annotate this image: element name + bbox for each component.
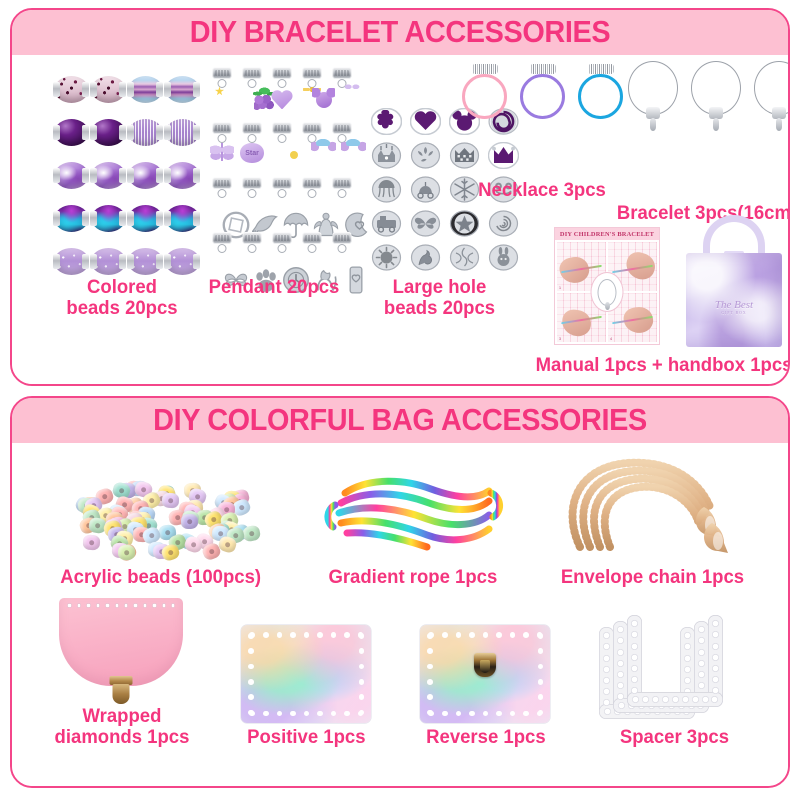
bail-icon [273,122,292,134]
cord-loop-icon [462,74,507,119]
chain-svg [554,451,750,563]
flap-hole [152,603,156,607]
manual-step-number: 4 [610,337,612,341]
cloud-charm-icon: Star [240,143,264,163]
panel-hole [538,710,544,716]
gift-handbox: The Best GIFT BOX [680,215,788,350]
flap-hole [171,603,175,607]
panel-hole [427,679,433,685]
finished-bracelet-icon [598,279,617,306]
section-body-bag: Acrylic beads (100pcs) [12,443,788,786]
flap-body [59,598,183,686]
bag-flap [59,598,183,704]
gradient-rope-coil [319,459,507,563]
label-acrylic-beads: Acrylic beads (100pcs) [60,567,261,588]
jump-ring-icon [308,244,317,253]
panel-hole-col-right [538,633,544,715]
envelope-chain-art [554,451,750,563]
panel-hole [496,711,502,717]
panel-hole [538,664,544,670]
label-spacer: Spacer 3pcs [620,727,729,748]
pendant-charm [268,177,296,231]
item-handbox: The Best GIFT BOX [680,215,788,350]
bail-icon [303,177,322,189]
acrylic-bead [83,534,101,550]
bail-icon [333,122,352,134]
colored-bead [129,162,162,189]
bangle-dangle-icon [713,118,719,131]
panel-hole [344,632,350,638]
panel-hole [248,648,254,654]
panel-hole-col-left [248,633,254,715]
bangle-dangle-icon [776,118,782,131]
ribbon-handle-icon [703,215,765,255]
bail-icon [213,122,232,134]
panel-hole [331,632,337,638]
pendant-charm [208,177,236,231]
extender-chain-icon [530,64,556,74]
panel-hole [359,633,365,639]
panel-hole [442,711,448,717]
product-infographic: DIY BRACELET ACCESSORIES [0,0,800,800]
acrylic-bead [118,545,135,560]
holographic-panel-reverse [420,625,550,723]
panel-hole-row-top [249,632,363,638]
spacer-stack [599,613,749,723]
jump-ring-icon [218,79,227,88]
panel-hole [359,648,365,654]
extender-chain-icon [472,64,498,74]
pendant-charm [238,177,266,231]
bail-icon [243,232,262,244]
label-positive: Positive 1pcs [247,727,365,748]
pendant-charm [298,67,326,121]
panel-hole [248,633,254,639]
colored-bead [55,205,88,232]
jump-ring-icon [278,79,287,88]
label-pendant: Pendant 20pcs [198,277,350,298]
flap-clasp-icon [110,676,133,704]
spacer-holes-left [617,626,624,700]
crown-bead-icon [449,142,480,169]
acrylic-bead [161,493,179,509]
panel-hole [248,694,254,700]
manual-center-inset [591,272,624,312]
pendant-grid: Star [208,67,356,286]
item-reverse-panel: Reverse 1pcs [420,625,550,748]
ornate-butterfly-bead-icon [410,210,441,237]
panel-hole [483,711,489,717]
necklace-cord [576,63,626,123]
colored-bead [55,248,88,275]
bangle-dangle-icon [650,118,656,131]
item-positive-panel: Positive 1pcs [241,625,371,748]
bail-icon [333,67,352,79]
pendant-charm [298,177,326,231]
jump-ring-icon [278,134,287,143]
jump-ring-icon [248,244,257,253]
item-manual: DIY CHILDREN'S BRACELET 1 2 [554,227,660,345]
spacer-holes-right [712,620,719,694]
panel-hole [317,711,323,717]
jump-ring-icon [338,189,347,198]
item-envelope-chain: Envelope chain 1pcs [554,451,750,588]
spacer-holes-left [631,620,638,694]
label-gradient-rope: Gradient rope 1pcs [329,567,498,588]
jump-ring-icon [308,189,317,198]
handbox-logo: The Best GIFT BOX [715,299,753,315]
section-header-bracelet: DIY BRACELET ACCESSORIES [12,10,788,55]
cord-loop-icon [578,74,623,119]
bail-icon [243,122,262,134]
panel-hole [359,679,365,685]
extender-chain-icon [588,64,614,74]
clasp-tongue [113,684,130,704]
colored-bead [55,162,88,189]
panel-hole [263,711,269,717]
item-bracelet [624,61,790,137]
manual-cover-title: DIY CHILDREN'S BRACELET [555,228,659,240]
colored-bead [129,119,162,146]
manual-steps-grid: 1 2 3 [555,240,659,344]
item-pendant: Star [208,67,356,286]
pendant-charm [298,122,326,176]
panel-hole [248,664,254,670]
flap-hole [96,603,100,607]
section-card-bag: DIY COLORFUL BAG ACCESSORIES Acrylic bea… [10,396,790,788]
section-body-bracelet: Colored beads 20pcs [12,55,788,384]
panel-hole [427,648,433,654]
label-reverse: Reverse 1pcs [426,727,545,748]
positive-panel-art [241,625,371,723]
pendant-charm [208,67,236,121]
item-gradient-rope: Gradient rope 1pcs [319,459,507,588]
sun-face-bead-icon [371,244,402,271]
bag-row-top: Acrylic beads (100pcs) [12,443,788,588]
clover-bead-icon [371,108,402,135]
pendant-charm [268,122,296,176]
panel-hole [469,632,475,638]
panel-clasp-icon [474,653,496,677]
panel-hole [538,694,544,700]
colored-beads-grid [54,69,199,282]
colored-bead [166,119,199,146]
panel-hole [331,711,337,717]
handbox-body: The Best GIFT BOX [686,253,782,347]
flap-hole [105,603,109,607]
necklace-cord [460,63,510,123]
bail-icon [333,232,352,244]
panel-hole [496,632,502,638]
star-bead-icon [449,210,480,237]
colored-bead [166,76,199,103]
section-title-bracelet: DIY BRACELET ACCESSORIES [39,15,761,48]
jump-ring-icon [218,244,227,253]
envelope-chain-strap [554,451,750,563]
colored-bead [129,205,162,232]
panel-hole [523,711,529,717]
bangle-bracelet [624,61,682,137]
label-wrapped-diamonds: Wrapped diamonds 1pcs [54,706,189,748]
jump-ring-icon [218,189,227,198]
label-necklace: Necklace 3pcs [457,180,628,201]
train-bead-icon [371,210,402,237]
colored-bead [129,76,162,103]
cord-loop-icon [520,74,565,119]
acrylic-bead [181,514,198,529]
section-card-bracelet: DIY BRACELET ACCESSORIES [10,8,790,386]
heart-bead-icon [410,108,441,135]
flap-hole [143,603,147,607]
panel-hole [359,694,365,700]
bangle-bracelet [687,61,745,137]
spacer-holes-left [603,632,610,706]
castle-bead-icon [371,142,402,169]
pendant-charm [328,67,356,121]
panel-hole-col-right [359,633,365,715]
manual-step-number: 3 [559,337,561,341]
panel-hole [483,632,489,638]
panel-hole [290,711,296,717]
bag-row-bottom: Wrapped diamonds 1pcs [12,588,788,748]
item-acrylic-beads: Acrylic beads (100pcs) [50,459,272,588]
flap-hole [67,603,71,607]
jump-ring-icon [278,244,287,253]
jump-ring-icon [248,134,257,143]
label-colored-beads: Colored beads 20pcs [46,277,198,319]
gradient-rope-art [319,459,507,563]
bail-icon [213,67,232,79]
acrylic-beads-art [50,459,272,563]
label-envelope-chain: Envelope chain 1pcs [561,567,744,588]
item-necklace [460,63,626,123]
filigree-bead-icon [449,244,480,271]
holographic-panel-positive [241,625,371,723]
bunny-bead-icon [488,244,519,271]
colored-bead [166,205,199,232]
flap-hole [86,603,90,607]
flap-hole [162,603,166,607]
panel-hole [538,648,544,654]
flap-hole [124,603,128,607]
flap-hole [115,603,119,607]
panel-hole [304,711,310,717]
manual-step-number: 1 [559,286,561,290]
label-manual-handbox: Manual 1pcs + handbox 1pcs [531,355,790,376]
pendant-charm [268,67,296,121]
colored-bead [92,205,125,232]
wrapped-flap-art [59,598,183,704]
panel-hole [290,632,296,638]
panel-hole [510,711,516,717]
flap-hole [77,603,81,607]
flap-hole-row [67,603,175,609]
bail-icon [273,232,292,244]
label-large-hole-beads: Large hole beads 20pcs [361,277,518,319]
panel-hole [523,632,529,638]
panel-hole [263,632,269,638]
bail-icon [213,177,232,189]
panel-hole [456,632,462,638]
bail-icon [273,177,292,189]
item-spacer: Spacer 3pcs [599,613,749,748]
bail-icon [333,177,352,189]
panel-hole [442,632,448,638]
jump-ring-icon [218,134,227,143]
colored-bead [92,119,125,146]
bail-icon [243,67,262,79]
pendant-charm: Star [238,122,266,176]
jellyfish-bead-icon [371,176,402,203]
panel-hole-row-bottom [428,711,542,717]
colored-bead [166,162,199,189]
purple-crown-bead-icon [488,142,519,169]
panel-hole-col-left [427,633,433,715]
panel-hole-row-bottom [249,711,363,717]
colored-bead [55,76,88,103]
panel-hole [538,633,544,639]
colored-bead [55,119,88,146]
panel-hole-row-top [428,632,542,638]
colored-bead [92,248,125,275]
panel-hole [277,711,283,717]
manual-booklet: DIY CHILDREN'S BRACELET 1 2 [554,227,660,345]
rope-svg [319,459,507,563]
panel-hole [359,710,365,716]
bow-icon [303,85,321,94]
panel-hole [427,694,433,700]
floral-bead-icon [410,142,441,169]
carriage-bead-icon [410,176,441,203]
bail-icon [273,67,292,79]
panel-hole [277,632,283,638]
item-colored-beads [54,69,199,282]
butterfly-charm-icon [210,143,234,161]
colored-bead [92,76,125,103]
dragon-bead-icon [410,244,441,271]
necklace-cord [518,63,568,123]
bail-icon [243,177,262,189]
flap-hole [133,603,137,607]
panel-hole [469,711,475,717]
rose-bead-icon [488,210,519,237]
jump-ring-icon [338,244,347,253]
panel-hole [248,679,254,685]
spacer-strip [627,615,723,707]
bail-icon [303,232,322,244]
panel-hole [304,632,310,638]
spacer-art [599,613,749,723]
bail-icon [303,67,322,79]
pendant-charm [208,122,236,176]
colored-bead [92,162,125,189]
acrylic-bead-pile [50,459,272,563]
reverse-panel-art [420,625,550,723]
panel-hole [317,632,323,638]
panel-hole [427,710,433,716]
bracelet-row [624,61,790,137]
pendant-charm [328,177,356,231]
panel-hole [344,711,350,717]
section-header-bag: DIY COLORFUL BAG ACCESSORIES [12,398,788,443]
panel-hole [510,632,516,638]
panel-hole [427,664,433,670]
panel-hole [456,711,462,717]
heart-charm-icon [271,88,293,109]
bangle-bracelet [750,61,790,137]
panel-hole [359,664,365,670]
bail-icon [303,122,322,134]
necklace-row [460,63,626,123]
jump-ring-icon [248,189,257,198]
panel-hole [248,710,254,716]
jump-ring-icon [278,189,287,198]
spacer-holes-bottom [632,696,718,703]
bail-icon [213,232,232,244]
item-wrapped-diamonds: Wrapped diamonds 1pcs [51,598,193,748]
pendant-charm [238,67,266,121]
panel-hole [538,679,544,685]
panel-hole [427,633,433,639]
colored-bead [166,248,199,275]
section-title-bag: DIY COLORFUL BAG ACCESSORIES [39,403,761,436]
pendant-charm [328,122,356,176]
colored-bead [129,248,162,275]
